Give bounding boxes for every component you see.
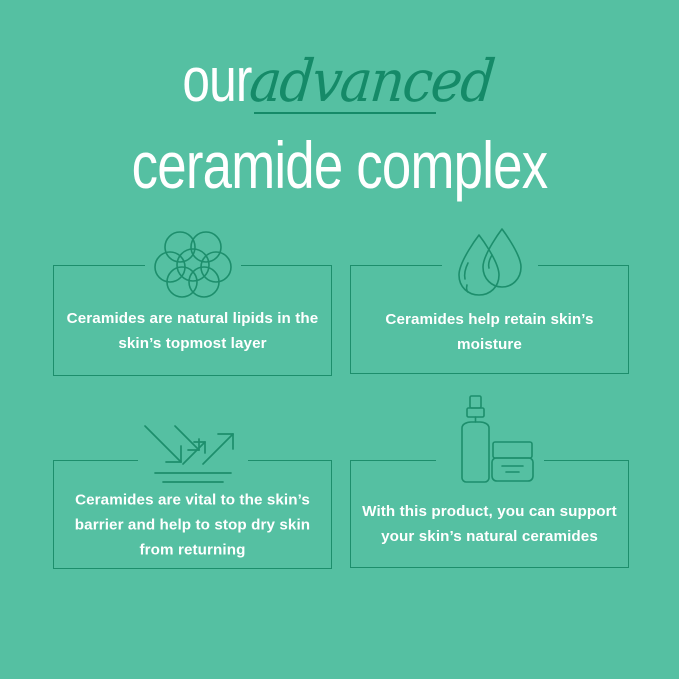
heading-word-our: our	[182, 46, 251, 116]
benefit-card-barrier: Ceramides are vital to the skin’s barrie…	[53, 460, 332, 569]
page-title: ouradvanced ceramide complex	[0, 46, 679, 202]
water-droplets-icon	[445, 223, 535, 301]
heading-underline	[254, 112, 436, 114]
card-text: Ceramides are natural lipids in the skin…	[63, 306, 322, 356]
benefit-card-product: With this product, you can support your …	[350, 460, 629, 568]
card-row-bottom: Ceramides are vital to the skin’s barrie…	[0, 412, 679, 608]
serum-bottle-and-jar-icon	[438, 394, 542, 490]
benefit-card-moisture: Ceramides help retain skin’s moisture	[350, 265, 629, 374]
lipid-cluster-icon	[150, 225, 236, 299]
infographic-canvas: ouradvanced ceramide complex	[0, 0, 679, 679]
heading-line-2: ceramide complex	[68, 128, 611, 202]
card-text: Ceramides help retain skin’s moisture	[360, 307, 619, 357]
heading-line-1: ouradvanced	[0, 46, 679, 118]
benefit-card-grid: Ceramides are natural lipids in the skin…	[0, 222, 679, 608]
benefit-card-lipids: Ceramides are natural lipids in the skin…	[53, 265, 332, 376]
card-text: With this product, you can support your …	[360, 499, 619, 549]
card-text: Ceramides are vital to the skin’s barrie…	[63, 487, 322, 562]
card-row-top: Ceramides are natural lipids in the skin…	[0, 222, 679, 412]
barrier-deflect-arrows-icon	[141, 416, 245, 490]
heading-word-advanced-wrapper: advanced	[250, 46, 514, 116]
heading-word-advanced: advanced	[246, 46, 496, 116]
